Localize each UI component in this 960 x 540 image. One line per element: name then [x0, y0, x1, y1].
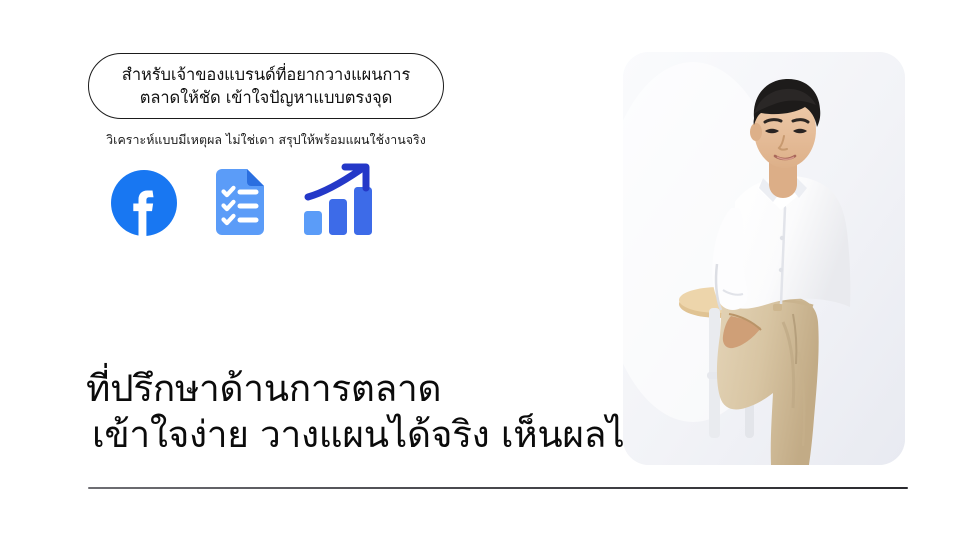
bottom-rule	[88, 487, 908, 489]
subtitle-text: วิเคราะห์แบบมีเหตุผล ไม่ใช่เดา สรุปให้พร…	[0, 131, 532, 150]
growth-bar-chart-icon	[300, 163, 380, 239]
consultant-portrait	[623, 52, 905, 465]
badge-line-1: สำหรับเจ้าของแบรนด์ที่อยากวางแผนการ	[122, 63, 410, 86]
facebook-icon	[108, 167, 180, 239]
icon-row	[108, 163, 380, 239]
badge-line-2: ตลาดให้ชัด เข้าใจปัญหาแบบตรงจุด	[140, 86, 392, 109]
checklist-document-icon	[210, 167, 270, 239]
headline-badge: สำหรับเจ้าของแบรนด์ที่อยากวางแผนการ ตลาด…	[88, 53, 444, 119]
banner-canvas: สำหรับเจ้าของแบรนด์ที่อยากวางแผนการ ตลาด…	[0, 0, 960, 540]
left-content-column: สำหรับเจ้าของแบรนด์ที่อยากวางแผนการ ตลาด…	[0, 0, 620, 540]
